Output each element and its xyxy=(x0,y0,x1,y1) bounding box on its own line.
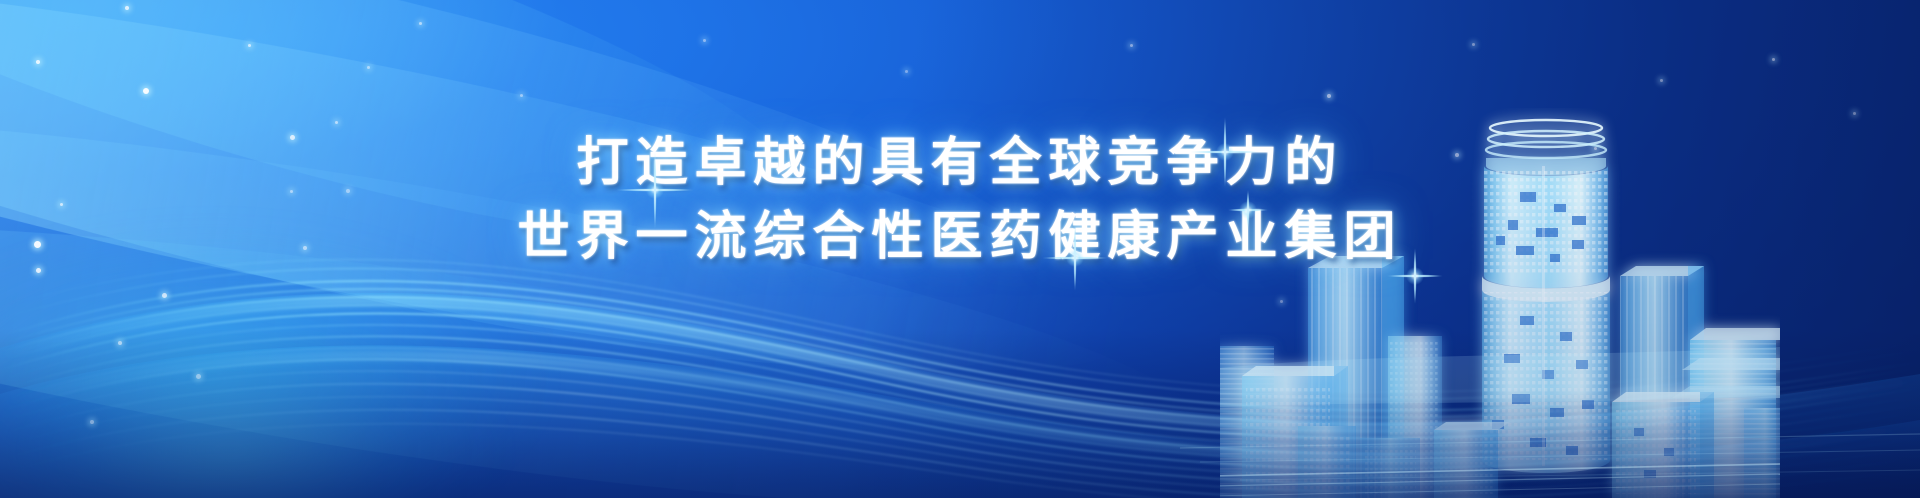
particle-dot xyxy=(248,44,251,47)
particle-dot xyxy=(367,66,370,69)
particle-dot xyxy=(1772,58,1775,61)
headline-line-2: 世界一流综合性医药健康产业集团 xyxy=(0,202,1920,272)
particle-dot xyxy=(1130,44,1133,47)
headline-line-1: 打造卓越的具有全球竞争力的 xyxy=(0,128,1920,198)
particle-dot xyxy=(1472,43,1475,46)
particle-dot xyxy=(143,88,149,94)
particle-dot xyxy=(703,39,706,42)
hero-banner: 打造卓越的具有全球竞争力的 世界一流综合性医药健康产业集团 xyxy=(0,0,1920,498)
particle-dot xyxy=(1327,94,1331,98)
particle-dot xyxy=(1853,112,1856,115)
particle-dot xyxy=(335,121,338,124)
headline-block: 打造卓越的具有全球竞争力的 世界一流综合性医药健康产业集团 xyxy=(0,128,1920,272)
particle-dot xyxy=(36,60,40,64)
particle-dot xyxy=(905,70,908,73)
particle-dot xyxy=(125,6,129,10)
particle-dot xyxy=(419,22,422,25)
particle-dot xyxy=(520,94,523,97)
particle-dot xyxy=(1660,79,1663,82)
